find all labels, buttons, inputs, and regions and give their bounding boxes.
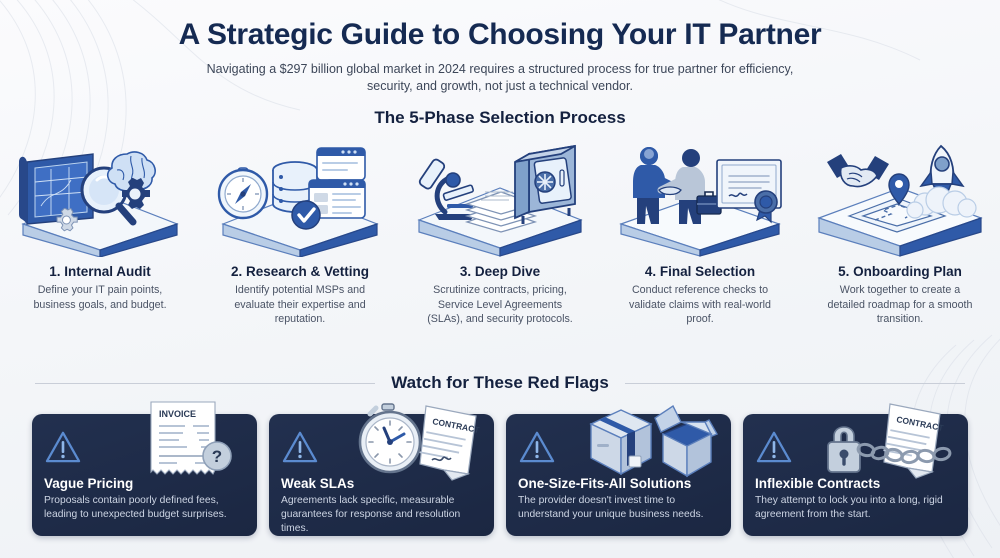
phase-list: 1. Internal Audit Define your IT pain po… xyxy=(0,132,1000,327)
phase-1-illustration xyxy=(5,132,195,257)
phase-item-3: 3. Deep Dive Scrutinize contracts, prici… xyxy=(400,132,600,327)
page-subtitle: Navigating a $297 billion global market … xyxy=(190,61,810,95)
handshake-icon xyxy=(827,154,889,187)
card-4-desc: They attempt to lock you into a long, ri… xyxy=(755,494,960,522)
divider-left xyxy=(35,383,375,384)
card-2-desc: Agreements lack specific, measurable gua… xyxy=(281,494,486,536)
seal-ribbon xyxy=(755,191,777,222)
open-box-icon xyxy=(655,406,717,476)
stopwatch-icon xyxy=(360,404,420,472)
page-title: A Strategic Guide to Choosing Your IT Pa… xyxy=(0,18,1000,52)
phase-2-title: 2. Research & Vetting xyxy=(231,264,369,279)
phase-item-2: 2. Research & Vetting Identify potential… xyxy=(200,132,400,327)
warning-triangle-icon xyxy=(518,430,556,464)
phase-1-desc: Define your IT pain points, business goa… xyxy=(20,283,180,312)
red-flag-card-vague-pricing[interactable]: INVOICE ? xyxy=(32,414,257,536)
phase-4-title: 4. Final Selection xyxy=(645,264,755,279)
red-flag-card-one-size-fits-all[interactable]: One-Size-Fits-All Solutions The provider… xyxy=(506,414,731,536)
divider-right xyxy=(625,383,965,384)
card-3-desc: The provider doesn't invest time to unde… xyxy=(518,494,723,522)
phase-5-desc: Work together to create a detailed roadm… xyxy=(820,283,980,327)
contract-document-icon: CONTRACT xyxy=(419,406,481,480)
card-4-illustration: CONTRACT xyxy=(814,400,964,482)
red-flag-card-weak-slas[interactable]: CONTRACT xyxy=(269,414,494,536)
phase-2-illustration xyxy=(205,132,395,257)
card-3-illustration xyxy=(577,400,727,482)
red-flag-card-inflexible-contracts[interactable]: CONTRACT xyxy=(743,414,968,536)
compass-icon xyxy=(219,168,267,218)
warning-triangle-icon xyxy=(281,430,319,464)
smoke-cloud-icon xyxy=(907,187,976,218)
closed-box-icon xyxy=(591,410,651,474)
card-2-illustration: CONTRACT xyxy=(340,400,490,482)
check-badge-icon xyxy=(292,201,320,229)
phase-item-1: 1. Internal Audit Define your IT pain po… xyxy=(0,132,200,327)
red-flags-heading-row: Watch for These Red Flags xyxy=(0,373,1000,393)
phase-3-desc: Scrutinize contracts, pricing, Service L… xyxy=(420,283,580,327)
svg-text:?: ? xyxy=(212,447,222,466)
red-flags-section-heading: Watch for These Red Flags xyxy=(391,373,609,393)
warning-triangle-icon xyxy=(755,430,793,464)
invoice-label: INVOICE xyxy=(159,409,196,419)
card-1-desc: Proposals contain poorly defined fees, l… xyxy=(44,494,249,522)
phase-5-title: 5. Onboarding Plan xyxy=(838,264,962,279)
phase-4-desc: Conduct reference checks to validate cla… xyxy=(620,283,780,327)
card-4-title: Inflexible Contracts xyxy=(755,476,880,491)
phases-section-heading: The 5-Phase Selection Process xyxy=(0,108,1000,128)
phase-1-title: 1. Internal Audit xyxy=(49,264,151,279)
phase-2-desc: Identify potential MSPs and evaluate the… xyxy=(220,283,380,327)
contract-document-icon: CONTRACT xyxy=(883,404,945,478)
card-1-illustration: INVOICE ? xyxy=(103,400,253,482)
card-1-title: Vague Pricing xyxy=(44,476,133,491)
card-3-title: One-Size-Fits-All Solutions xyxy=(518,476,691,491)
phase-3-title: 3. Deep Dive xyxy=(460,264,540,279)
red-flag-card-list: INVOICE ? xyxy=(32,414,968,536)
phase-5-illustration xyxy=(805,132,995,257)
infographic-root: A Strategic Guide to Choosing Your IT Pa… xyxy=(0,0,1000,558)
padlock-icon xyxy=(828,427,860,472)
phase-item-4: 4. Final Selection Conduct reference che… xyxy=(600,132,800,327)
phase-4-illustration xyxy=(605,132,795,257)
card-2-title: Weak SLAs xyxy=(281,476,354,491)
phase-3-illustration xyxy=(405,132,595,257)
warning-triangle-icon xyxy=(44,430,82,464)
phase-item-5: 5. Onboarding Plan Work together to crea… xyxy=(800,132,1000,327)
question-badge-icon: ? xyxy=(203,442,231,470)
